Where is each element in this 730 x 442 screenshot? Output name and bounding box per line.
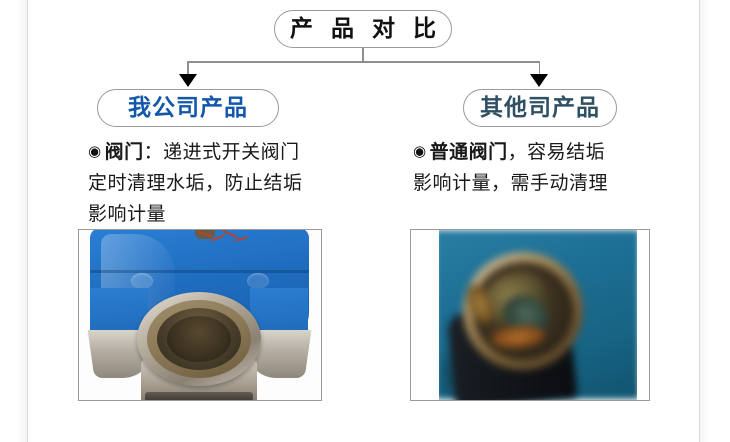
bullet-icon-others: ◉ [413, 142, 427, 160]
photo-gutter-left [411, 230, 439, 400]
photo-gutter-right [637, 230, 649, 400]
valve-base-shadow [145, 392, 253, 401]
column-body-others: ◉普通阀门，容易结垢 影响计量，需手动清理 [413, 136, 663, 199]
connector-horizontal [187, 61, 540, 63]
body-line-ours-2: 定时清理水垢，防止结垢 [88, 168, 338, 199]
left-edge-rule [27, 0, 28, 442]
body-line-ours-3: 影响计量 [88, 199, 338, 230]
body-lead-others: 普通阀门 [430, 141, 508, 163]
body-line-ours-1: ◉阀门：递进式开关阀门 [88, 136, 338, 168]
column-body-ours: ◉阀门：递进式开关阀门 定时清理水垢，防止结垢 影响计量 [88, 136, 338, 230]
body-separator-ours: ： [144, 141, 164, 163]
column-label-others: 其他司产品 [463, 89, 617, 127]
valve-seal-wire [197, 229, 251, 244]
valve-seam [90, 270, 309, 273]
valve-bore [167, 316, 231, 362]
corroded-pipe-photo-frame [410, 229, 650, 401]
arrow-down-icon-left [179, 74, 197, 87]
body-line-others-1-rest: 容易结垢 [527, 141, 605, 163]
corroded-pipe-photo [411, 230, 649, 400]
column-label-ours-text: 我公司产品 [128, 97, 248, 120]
body-line-others-1: ◉普通阀门，容易结垢 [413, 136, 663, 168]
blue-valve-photo [79, 230, 321, 400]
product-comparison-page: 产 品 对 比 我公司产品 其他司产品 ◉阀门：递进式开关阀门 定时清理水垢，防… [0, 0, 730, 442]
connector-stem [362, 48, 364, 62]
arrow-down-icon-right [530, 74, 548, 87]
valve-dimple-left [131, 273, 153, 289]
body-line-ours-1-rest: 递进式开关阀门 [163, 141, 300, 163]
connector-drop-right [539, 61, 541, 75]
body-line-others-2: 影响计量，需手动清理 [413, 168, 663, 199]
pipe-blur-layer [411, 230, 649, 400]
body-separator-others: ， [508, 141, 528, 163]
page-title: 产 品 对 比 [285, 18, 441, 41]
left-edge-shadow [17, 0, 27, 442]
right-edge-shadow [700, 0, 710, 442]
blue-valve-photo-frame [78, 229, 322, 401]
valve-dimple-right [247, 273, 269, 289]
column-label-others-text: 其他司产品 [480, 97, 600, 120]
column-label-ours: 我公司产品 [97, 89, 279, 127]
body-lead-ours: 阀门 [105, 141, 144, 163]
bullet-icon-ours: ◉ [88, 142, 102, 160]
connector-drop-left [187, 61, 189, 75]
page-title-badge: 产 品 对 比 [274, 10, 452, 48]
